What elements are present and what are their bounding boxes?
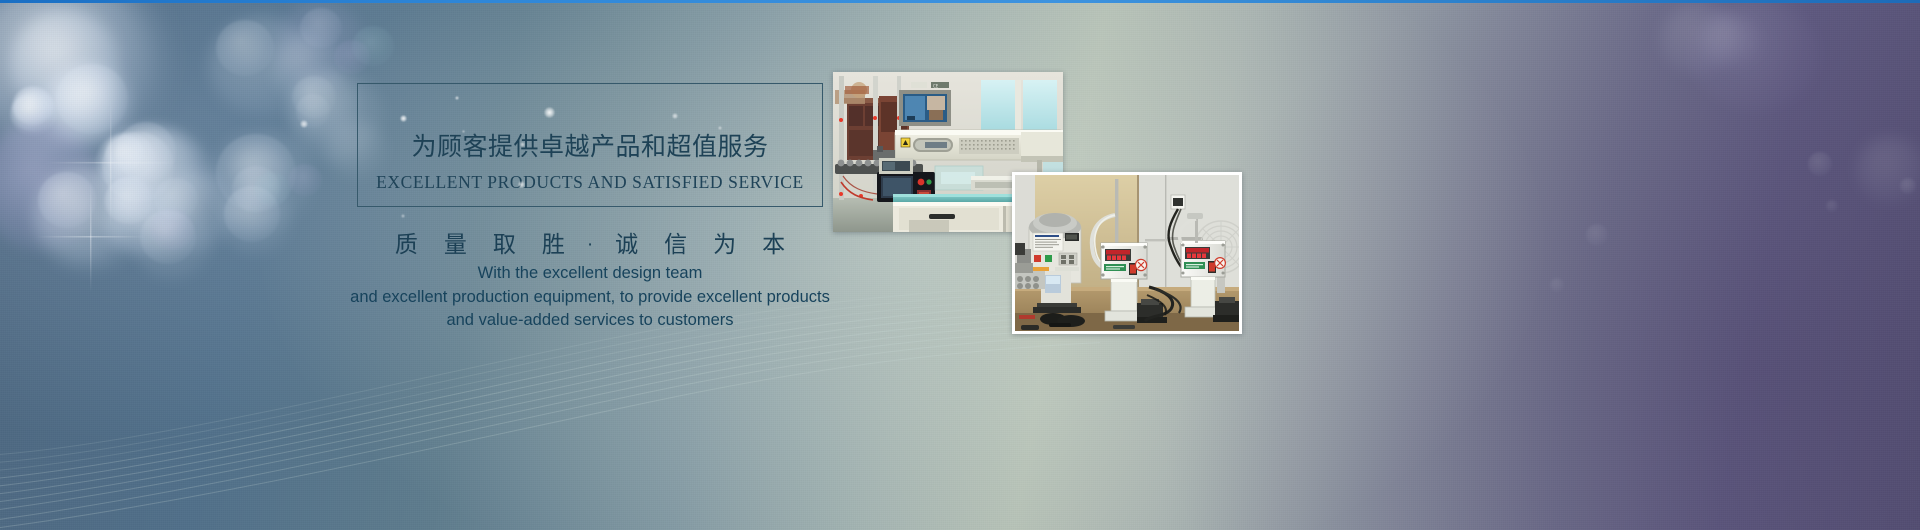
description-line-1: With the excellent design team	[280, 262, 900, 286]
slogan-char: 量	[431, 225, 480, 259]
slogan-char: 诚	[602, 225, 651, 259]
slogan-char: 质	[382, 225, 431, 259]
top-accent-rule	[0, 0, 1920, 3]
photo-welding-machines-art	[1015, 175, 1239, 331]
promo-banner: 为顾客提供卓越产品和超值服务 EXCELLENT PRODUCTS AND SA…	[0, 0, 1920, 530]
description-line-2: and excellent production equipment, to p…	[280, 286, 900, 310]
slogan-char: 胜	[529, 225, 578, 259]
slogan-char: 为	[700, 225, 749, 259]
slogan-chinese: 质量取胜·诚信为本	[357, 225, 823, 259]
description-line-3: and value-added services to customers	[280, 309, 900, 333]
photo-welding-machines	[1012, 172, 1242, 334]
slogan-separator-dot: ·	[578, 234, 602, 256]
headline-chinese: 为顾客提供卓越产品和超值服务	[357, 127, 823, 163]
slogan-char: 取	[480, 225, 529, 259]
slogan-char: 信	[651, 225, 700, 259]
slogan-char: 本	[749, 225, 798, 259]
headline-english: EXCELLENT PRODUCTS AND SATISFIED SERVICE	[357, 172, 823, 193]
svg-text:CE: CE	[933, 83, 939, 88]
description-paragraph: With the excellent design team and excel…	[280, 262, 900, 333]
